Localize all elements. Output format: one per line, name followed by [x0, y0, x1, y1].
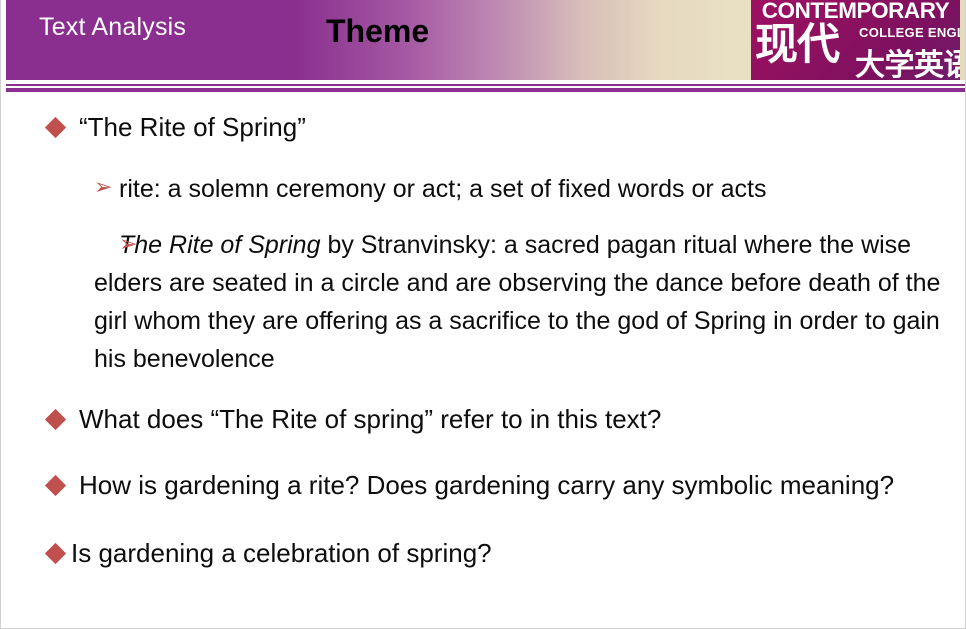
work-title-italic: The Rite of Spring [119, 231, 321, 259]
bullet-text: What does “The Rite of spring” refer to … [79, 404, 661, 434]
bullet-text: “The Rite of Spring” [79, 112, 306, 142]
diamond-bullet-icon [45, 543, 66, 564]
logo-chinese-subtitle: 大学英语 [855, 40, 960, 80]
header-subtitle: Text Analysis [39, 13, 186, 42]
contemporary-college-english-logo: CONTEMPORARY 现代 COLLEGE ENGLISH 大学英语 [751, 0, 960, 80]
sub-bullet-rite-definition: ➢ rite: a solemn ceremony or act; a set … [1, 170, 966, 208]
arrow-bullet-icon: ➢ [94, 175, 112, 201]
slide-canvas: Text Analysis Theme CONTEMPORARY 现代 COLL… [0, 0, 966, 629]
arrow-bullet-icon: ➢ [94, 232, 137, 258]
bullet-item-question-2: How is gardening a rite? Does gardening … [1, 468, 966, 502]
bullet-item-question-1: What does “The Rite of spring” refer to … [1, 402, 966, 436]
sub-bullet-stravinsky: ➢ The Rite of Spring by Stranvinsky: a s… [1, 226, 966, 378]
sub-bullet-text: rite: a solemn ceremony or act; a set of… [119, 175, 767, 203]
slide-body: “The Rite of Spring” ➢ rite: a solemn ce… [1, 98, 966, 570]
diamond-bullet-icon [45, 117, 66, 138]
bullet-item-question-3: Is gardening a celebration of spring? [1, 536, 966, 570]
logo-chinese-large-text: 现代 [755, 22, 839, 68]
bullet-item-title: “The Rite of Spring” [1, 110, 966, 144]
diamond-bullet-icon [45, 409, 66, 430]
bullet-text: How is gardening a rite? Does gardening … [1, 470, 894, 500]
logo-english-subtitle: COLLEGE ENGLISH [859, 25, 960, 40]
divider-line-thick [6, 88, 966, 92]
bullet-text: Is gardening a celebration of spring? [71, 538, 492, 568]
divider-line-thin [6, 84, 966, 86]
page-title: Theme [326, 13, 429, 50]
